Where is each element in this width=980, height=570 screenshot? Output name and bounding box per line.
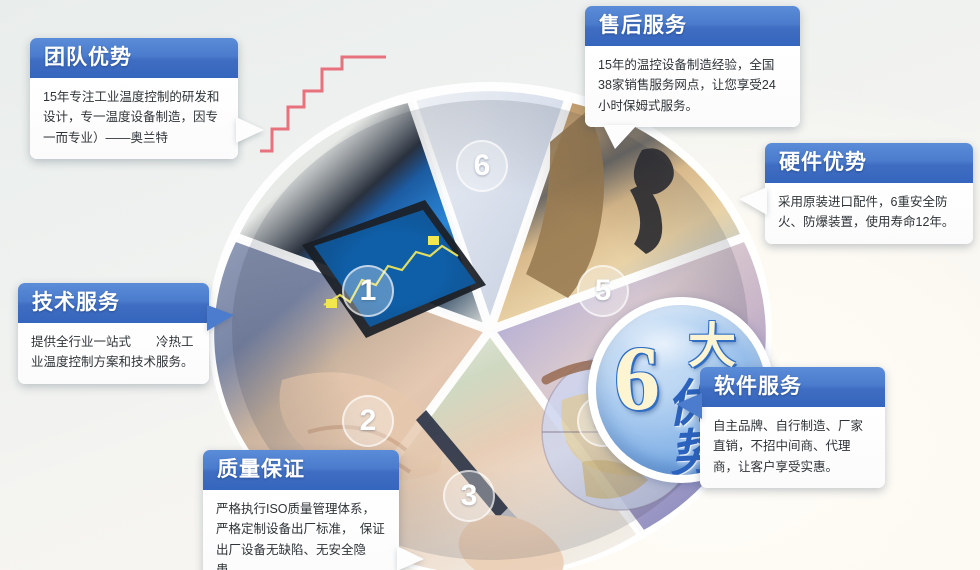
callout-card-team[interactable]: 团队优势 15年专注工业温度控制的研发和设计，专一温度设备制造，因专一而专业）—…: [30, 38, 238, 159]
callout-tail-hardware: [739, 187, 767, 215]
callout-title-quality: 质量保证: [203, 450, 399, 490]
callout-card-software[interactable]: 软件服务 自主品牌、自行制造、厂家直销，不招中间商、代理商，让客户享受实惠。: [700, 367, 885, 488]
callout-tail-team: [236, 117, 264, 143]
callout-tail-after-sales: [603, 125, 637, 149]
badge-3-label: 3: [461, 479, 478, 513]
badge-6-label: 6: [474, 149, 491, 183]
callout-tail-tech: [207, 305, 234, 331]
callout-body-software: 自主品牌、自行制造、厂家直销，不招中间商、代理商，让客户享受实惠。: [700, 407, 885, 488]
callout-title-after-sales: 售后服务: [585, 6, 800, 46]
callout-body-hardware: 采用原装进口配件，6重安全防火、防爆装置，使用寿命12年。: [765, 183, 973, 244]
badge-6[interactable]: 6: [456, 140, 508, 192]
callout-title-tech: 技术服务: [18, 283, 209, 323]
badge-2[interactable]: 2: [342, 395, 394, 447]
callout-card-quality[interactable]: 质量保证 严格执行ISO质量管理体系，严格定制设备出厂标准， 保证出厂设备无缺陷…: [203, 450, 399, 570]
center-unit: 大: [688, 323, 736, 371]
callout-card-tech[interactable]: 技术服务 提供全行业一站式 冷热工业温度控制方案和技术服务。: [18, 283, 209, 384]
red-chart-line-decoration: [258, 55, 388, 155]
badge-5-label: 5: [595, 274, 612, 308]
badge-1[interactable]: 1: [342, 265, 394, 317]
infographic-canvas: 6 大 优势 1 2 3 4 5 6 团队优势 15年专注工业温度: [0, 0, 980, 570]
badge-1-label: 1: [360, 274, 377, 308]
callout-body-team: 15年专注工业温度控制的研发和设计，专一温度设备制造，因专一而专业）——奥兰特: [30, 78, 238, 159]
callout-title-team: 团队优势: [30, 38, 238, 78]
callout-tail-software: [676, 393, 702, 419]
center-number: 6: [614, 332, 660, 424]
callout-title-software: 软件服务: [700, 367, 885, 407]
callout-card-hardware[interactable]: 硬件优势 采用原装进口配件，6重安全防火、防爆装置，使用寿命12年。: [765, 143, 973, 244]
callout-body-after-sales: 15年的温控设备制造经验，全国38家销售服务网点，让您享受24小时保姆式服务。: [585, 46, 800, 127]
callout-tail-quality: [397, 546, 424, 570]
callout-card-after-sales[interactable]: 售后服务 15年的温控设备制造经验，全国38家销售服务网点，让您享受24小时保姆…: [585, 6, 800, 127]
badge-3[interactable]: 3: [443, 470, 495, 522]
callout-title-hardware: 硬件优势: [765, 143, 973, 183]
callout-body-tech: 提供全行业一站式 冷热工业温度控制方案和技术服务。: [18, 323, 209, 384]
callout-body-quality: 严格执行ISO质量管理体系，严格定制设备出厂标准， 保证出厂设备无缺陷、无安全隐…: [203, 490, 399, 570]
badge-2-label: 2: [360, 404, 377, 438]
